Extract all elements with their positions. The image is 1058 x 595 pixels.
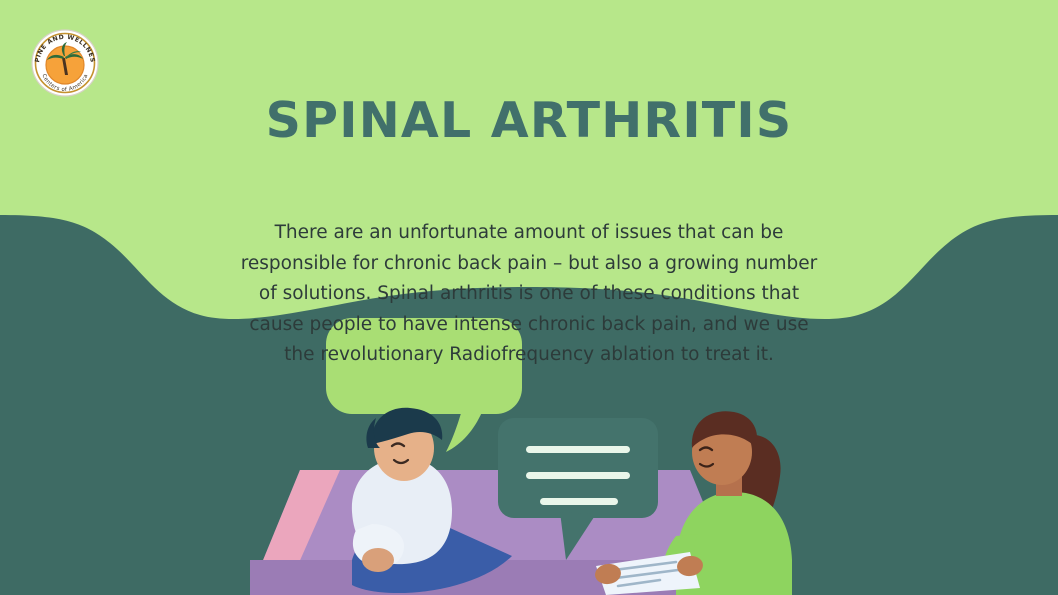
spine-and-wellness-logo: SPINE AND WELLNESS Centers of America (18, 27, 112, 99)
body-paragraph: There are an unfortunate amount of issue… (239, 218, 819, 371)
slide-canvas: SPINE AND WELLNESS Centers of America SP… (0, 0, 1058, 595)
page-title: SPINAL ARTHRITIS (0, 92, 1058, 149)
